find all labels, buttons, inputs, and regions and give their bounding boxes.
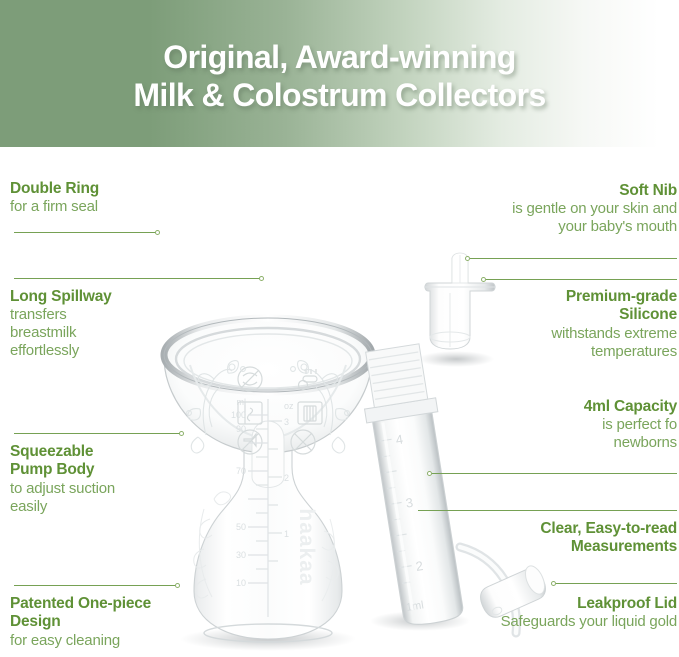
leader-dot-squeezable-pump [179, 431, 184, 436]
svg-text:2: 2 [284, 473, 289, 483]
header-banner: Original, Award-winning Milk & Colostrum… [0, 0, 679, 147]
botanical-pattern-right [291, 361, 350, 453]
svg-text:ml: ml [237, 397, 247, 407]
dishwasher-safe-icon [238, 402, 262, 424]
tube-scale [380, 439, 414, 583]
pump-scale-labels-oz: oz 3 2 1 [284, 401, 294, 539]
leader-line-4ml-capacity [432, 473, 677, 474]
callout-soft-nib: Soft Nib is gentle on your skin and your… [412, 182, 677, 236]
temperature-range-icon [299, 369, 318, 390]
botanical-pattern-bulb-right [322, 519, 338, 601]
no-tumble-dry-icon [291, 430, 315, 454]
svg-text:3: 3 [284, 417, 289, 427]
callout-body: is perfect fo newborns [412, 416, 677, 452]
callout-premium-grade-silicone: Premium-grade Silicone withstands extrem… [412, 288, 677, 361]
botanical-pattern-left [187, 361, 246, 453]
leader-dot-long-spillway [259, 276, 264, 281]
header-title-line2: Milk & Colostrum Collectors [133, 77, 545, 115]
sterilizer-safe-icon [298, 402, 322, 424]
callout-body: to adjust suction easily [10, 480, 260, 516]
leader-dot-premium-silicone [481, 277, 486, 282]
leader-dot-leakproof-lid [551, 581, 556, 586]
callout-4ml-capacity: 4ml Capacity is perfect fo newborns [412, 398, 677, 452]
svg-text:4: 4 [395, 432, 404, 448]
leader-dot-soft-nib [465, 256, 470, 261]
callout-clear-measurements: Clear, Easy-to-read Measurements [412, 520, 677, 557]
callout-title: Clear, Easy-to-read Measurements [412, 520, 677, 557]
callout-title: 4ml Capacity [412, 398, 677, 416]
leader-line-long-spillway [14, 278, 262, 279]
callout-title: Patented One-piece Design [10, 595, 260, 632]
leader-dot-4ml-capacity [427, 471, 432, 476]
no-microwave-icon [238, 367, 262, 391]
svg-text:3: 3 [405, 495, 414, 511]
colostrum-collector-tube: 4 3 2 1ml [356, 343, 550, 633]
svg-text:30: 30 [236, 550, 246, 560]
callout-title: Soft Nib [412, 182, 677, 200]
callout-body: is gentle on your skin and your baby's m… [412, 200, 677, 236]
svg-text:1: 1 [284, 529, 289, 539]
leader-dot-patented-design [175, 583, 180, 588]
svg-text:2: 2 [415, 558, 424, 574]
callout-body: Safeguards your liquid gold [397, 613, 677, 631]
callout-patented-one-piece-design: Patented One-piece Design for easy clean… [10, 595, 260, 650]
svg-text:100: 100 [231, 410, 246, 420]
leader-line-double-ring [14, 232, 157, 233]
callout-double-ring: Double Ring for a firm seal [10, 180, 260, 216]
leader-line-premium-silicone [486, 279, 677, 280]
care-symbols-group [238, 367, 322, 454]
leader-line-patented-design [14, 585, 177, 586]
leader-line-leakproof-lid [556, 583, 677, 584]
callout-title: Long Spillway [10, 288, 260, 306]
callout-leakproof-lid: Leakproof Lid Safeguards your liquid gol… [397, 595, 677, 631]
callout-body: transfers breastmilk effortlessly [10, 306, 260, 360]
callout-title: Double Ring [10, 180, 260, 198]
header-title-line1: Original, Award-winning [163, 39, 515, 77]
callout-title: Premium-grade Silicone [412, 288, 677, 325]
brand-embossing: haakaa [295, 508, 318, 585]
callout-body: for a firm seal [10, 198, 260, 216]
callout-squeezable-pump-body: Squeezable Pump Body to adjust suction e… [10, 443, 260, 516]
callout-title: Leakproof Lid [397, 595, 677, 613]
callout-long-spillway: Long Spillway transfers breastmilk effor… [10, 288, 260, 360]
svg-text:10: 10 [236, 578, 246, 588]
leader-line-measurements [418, 510, 677, 511]
callout-body: withstands extreme temperatures [412, 325, 677, 361]
callout-body: for easy cleaning [10, 632, 260, 650]
leader-dot-double-ring [155, 230, 160, 235]
svg-text:50: 50 [236, 522, 246, 532]
callout-title: Squeezable Pump Body [10, 443, 260, 480]
leader-line-squeezable-pump [14, 433, 181, 434]
svg-text:90: 90 [236, 424, 246, 434]
svg-text:oz: oz [284, 401, 294, 411]
leader-line-soft-nib [470, 258, 677, 259]
